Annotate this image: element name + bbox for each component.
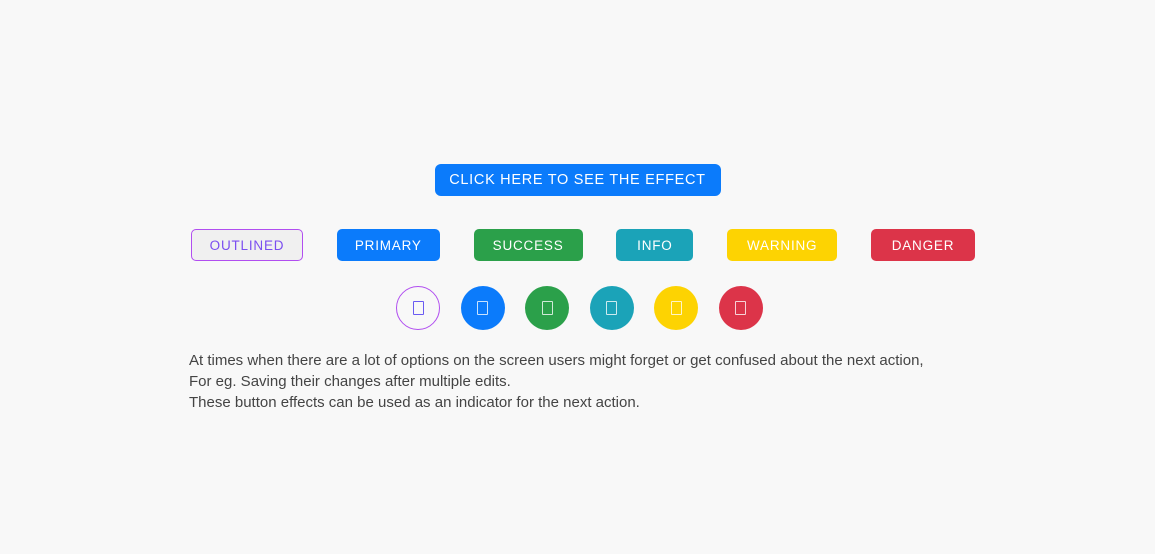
danger-circle-button[interactable] [719, 286, 763, 330]
success-circle-button[interactable] [525, 286, 569, 330]
outlined-button[interactable]: OUTLINED [191, 229, 303, 261]
info-button[interactable]: INFO [616, 229, 693, 261]
click-here-to-see-the-effect-button[interactable]: CLICK HERE TO SEE THE EFFECT [435, 164, 721, 196]
pill-button-row: OUTLINED PRIMARY SUCCESS INFO WARNING DA… [191, 229, 975, 261]
description-text: At times when there are a lot of options… [189, 350, 1049, 413]
danger-button[interactable]: DANGER [871, 229, 975, 261]
cta-row: CLICK HERE TO SEE THE EFFECT [0, 164, 1155, 196]
description-line-2: For eg. Saving their changes after multi… [189, 371, 1049, 392]
description-line-3: These button effects can be used as an i… [189, 392, 1049, 413]
missing-glyph-icon [735, 301, 746, 315]
outlined-circle-button[interactable] [396, 286, 440, 330]
circle-button-row [396, 286, 763, 330]
missing-glyph-icon [477, 301, 488, 315]
info-circle-button[interactable] [590, 286, 634, 330]
success-button[interactable]: SUCCESS [474, 229, 583, 261]
missing-glyph-icon [542, 301, 553, 315]
description-line-1: At times when there are a lot of options… [189, 350, 1049, 371]
missing-glyph-icon [606, 301, 617, 315]
warning-button[interactable]: WARNING [727, 229, 837, 261]
missing-glyph-icon [413, 301, 424, 315]
warning-circle-button[interactable] [654, 286, 698, 330]
primary-circle-button[interactable] [461, 286, 505, 330]
primary-button[interactable]: PRIMARY [337, 229, 440, 261]
missing-glyph-icon [671, 301, 682, 315]
page-root: CLICK HERE TO SEE THE EFFECT OUTLINED PR… [0, 0, 1155, 554]
